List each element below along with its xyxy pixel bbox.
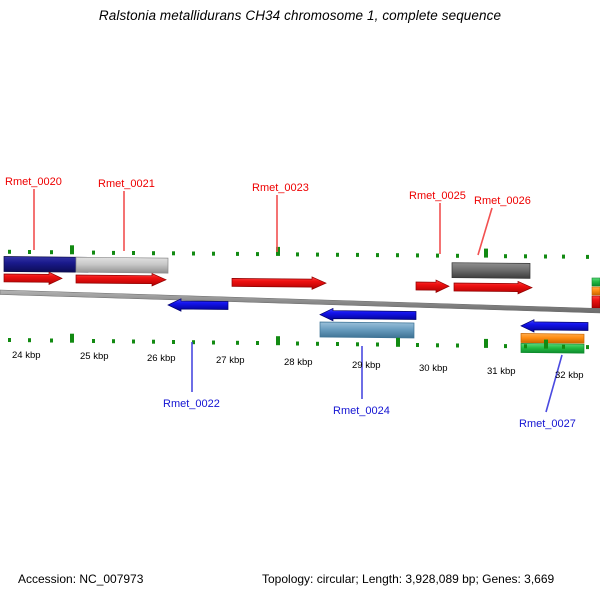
accession-text: Accession: NC_007973 [18, 572, 143, 586]
ruler-tick-27kbp: 27 kbp [216, 355, 245, 366]
label-rmet-0023[interactable]: Rmet_0023 [252, 182, 309, 194]
gene-bar-rmet-0021[interactable] [76, 257, 168, 273]
label-rmet-0025[interactable]: Rmet_0025 [409, 190, 466, 202]
ruler-tick-29kbp: 29 kbp [352, 360, 381, 371]
label-rmet-0024[interactable]: Rmet_0024 [333, 405, 390, 417]
gene-bar-rmet-0020[interactable] [4, 257, 88, 273]
genome-backbone[interactable] [0, 290, 600, 313]
cds-rmet-0021[interactable] [76, 274, 166, 286]
gene-bar-rmet-0024[interactable] [320, 322, 414, 338]
gene-bar-rmet-0027-green[interactable] [521, 344, 584, 354]
cds-rmet-0020[interactable] [4, 272, 62, 284]
cds-rmet-0024[interactable] [320, 308, 416, 320]
cds-right-edge-clipped[interactable] [592, 278, 600, 308]
gene-bar-rmet-0027-orange[interactable] [521, 334, 584, 344]
ruler-tick-30kbp: 30 kbp [419, 363, 448, 374]
ruler-tick-28kbp: 28 kbp [284, 357, 313, 368]
tick-row-upper [8, 245, 589, 259]
ruler-tick-24kbp: 24 kbp [12, 350, 41, 361]
cds-rmet-0023[interactable] [232, 277, 326, 289]
ruler-tick-26kbp: 26 kbp [147, 353, 176, 364]
label-rmet-0020[interactable]: Rmet_0020 [5, 176, 62, 188]
cds-rmet-0026[interactable] [454, 281, 532, 293]
tick-row-lower [8, 334, 589, 349]
gene-bar-rmet-0026[interactable] [452, 263, 530, 279]
genome-summary-text: Topology: circular; Length: 3,928,089 bp… [262, 572, 554, 586]
label-rmet-0026[interactable]: Rmet_0026 [474, 195, 531, 207]
ruler-tick-31kbp: 31 kbp [487, 366, 516, 377]
label-rmet-0027[interactable]: Rmet_0027 [519, 418, 576, 430]
cds-rmet-0025[interactable] [416, 280, 449, 292]
leader-lines-bottom [192, 342, 562, 412]
cds-rmet-0027[interactable] [521, 320, 588, 332]
genome-viewer: Ralstonia metallidurans CH34 chromosome … [0, 0, 600, 600]
ruler-tick-32kbp: 32 kbp [555, 370, 584, 381]
label-rmet-0021[interactable]: Rmet_0021 [98, 178, 155, 190]
label-rmet-0022[interactable]: Rmet_0022 [163, 398, 220, 410]
ruler-tick-25kbp: 25 kbp [80, 351, 109, 362]
genome-map-canvas [0, 0, 600, 600]
